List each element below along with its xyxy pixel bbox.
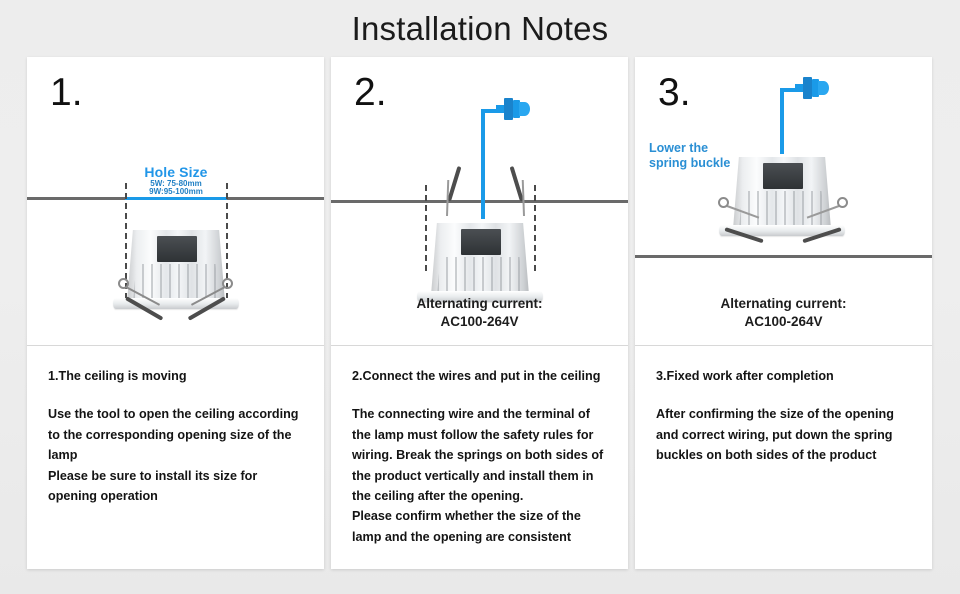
- panel-step-1: 1. Hole Size 5W: 75-80mm 9W:95-100mm: [27, 57, 324, 569]
- panel-3-text: 3.Fixed work after completion After conf…: [635, 346, 932, 569]
- spring-arm-left: [447, 166, 461, 202]
- fixture-heatsink-fins: [437, 257, 523, 295]
- panel-1-heading: 1.The ceiling is moving: [48, 368, 304, 384]
- panel-3-illustration: 3. Lower the spring buckle: [635, 57, 932, 346]
- panel-1-paragraph: Please be sure to install its size for o…: [48, 466, 304, 507]
- spring-pivot-right: [222, 278, 233, 289]
- panel-3-body: After confirming the size of the opening…: [656, 404, 912, 465]
- spring-buckle-right: [514, 181, 560, 221]
- spring-pivot-right: [837, 197, 848, 208]
- ac-current-caption: Alternating current: AC100-264V: [331, 295, 628, 331]
- spring-buckle-right: [225, 272, 271, 312]
- fixture-heatsink-fins: [739, 191, 825, 229]
- ac-caption-line2: AC100-264V: [635, 313, 932, 331]
- ac-caption-line2: AC100-264V: [331, 313, 628, 331]
- hole-size-9w: 9W:95-100mm: [123, 188, 229, 196]
- page-title: Installation Notes: [352, 10, 609, 48]
- panel-2-heading: 2.Connect the wires and put in the ceili…: [352, 368, 608, 384]
- panel-3-heading: 3.Fixed work after completion: [656, 368, 912, 384]
- ceiling-line: [635, 255, 932, 258]
- panel-3-paragraph: After confirming the size of the opening…: [656, 404, 912, 465]
- page-background: Installation Notes 1. Hole Size 5W: 75-8…: [0, 0, 960, 594]
- power-plug-icon: [795, 77, 829, 99]
- spring-pivot-left: [118, 278, 129, 289]
- panel-1-body: Use the tool to open the ceiling accordi…: [48, 404, 304, 506]
- panel-1-illustration: 1. Hole Size 5W: 75-80mm 9W:95-100mm: [27, 57, 324, 346]
- power-cable-vertical: [780, 88, 784, 154]
- panel-step-3: 3. Lower the spring buckle: [635, 57, 932, 569]
- plug-barrel: [504, 98, 513, 120]
- spring-guide-right: [534, 185, 536, 271]
- fixture-terminal-block: [763, 163, 803, 189]
- spring-pivot-left: [718, 197, 729, 208]
- plug-cap: [818, 81, 829, 95]
- spring-wire-right: [522, 180, 525, 216]
- spring-buckle-right: [839, 197, 885, 237]
- panel-1-paragraph: Use the tool to open the ceiling accordi…: [48, 404, 304, 465]
- hole-size-dimension-bar: [125, 197, 227, 200]
- spring-buckle-left: [411, 181, 457, 221]
- ceiling-line: [331, 200, 628, 203]
- power-plug-icon: [496, 98, 530, 120]
- step-number-3: 3.: [658, 73, 691, 112]
- panel-2-text: 2.Connect the wires and put in the ceili…: [331, 346, 628, 569]
- panel-1-text: 1.The ceiling is moving Use the tool to …: [27, 346, 324, 569]
- ac-current-caption: Alternating current: AC100-264V: [635, 295, 932, 331]
- power-cable-vertical: [481, 109, 485, 219]
- panel-row: 1. Hole Size 5W: 75-80mm 9W:95-100mm: [27, 57, 933, 569]
- plug-barrel: [803, 77, 812, 99]
- spring-buckle-left: [681, 197, 727, 237]
- panel-step-2: 2.: [331, 57, 628, 569]
- page-header: Installation Notes: [0, 0, 960, 58]
- fixture-terminal-block: [157, 236, 197, 262]
- spring-guide-left: [425, 185, 427, 271]
- hole-size-callout: Hole Size 5W: 75-80mm 9W:95-100mm: [123, 165, 229, 196]
- ac-caption-line1: Alternating current:: [635, 295, 932, 313]
- panel-2-illustration: 2.: [331, 57, 628, 346]
- panel-2-paragraph: Please confirm whether the size of the l…: [352, 506, 608, 547]
- ac-caption-line1: Alternating current:: [331, 295, 628, 313]
- step-number-2: 2.: [354, 73, 387, 112]
- panel-2-paragraph: The connecting wire and the terminal of …: [352, 404, 608, 506]
- hole-size-title: Hole Size: [123, 165, 229, 180]
- panel-2-body: The connecting wire and the terminal of …: [352, 404, 608, 547]
- spring-buckle-left: [80, 272, 126, 312]
- plug-cap: [519, 102, 530, 116]
- fixture-terminal-block: [461, 229, 501, 255]
- step-number-1: 1.: [50, 73, 83, 112]
